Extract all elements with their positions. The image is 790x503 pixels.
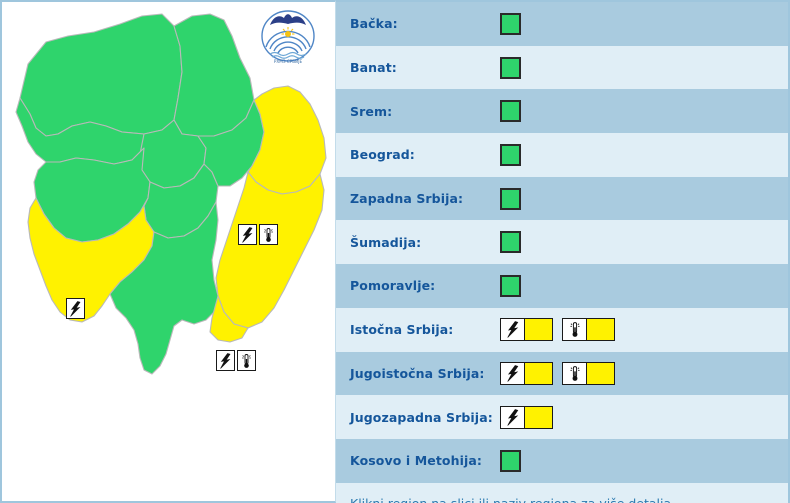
region-warning-list: Bačka: Banat: Srem: Beograd: Zapadna Srb bbox=[336, 0, 790, 503]
region-name-zapadna-srbija[interactable]: Zapadna Srbija: bbox=[350, 191, 500, 206]
region-status-srem bbox=[500, 100, 521, 122]
list-row-beograd[interactable]: Beograd: bbox=[336, 133, 788, 177]
list-row-kosovo-i-metohija[interactable]: Kosovo i Metohija: bbox=[336, 439, 788, 483]
list-row-srem[interactable]: Srem: bbox=[336, 89, 788, 133]
thunderstorm-icon bbox=[216, 350, 235, 371]
severity-yellow-cell bbox=[525, 407, 552, 428]
status-green-swatch bbox=[500, 100, 521, 122]
region-name-srem[interactable]: Srem: bbox=[350, 104, 500, 119]
region-name-pomoravlje[interactable]: Pomoravlje: bbox=[350, 278, 500, 293]
high-temperature-icon bbox=[563, 363, 587, 384]
region-name-jugoistocna-srbija[interactable]: Jugoistočna Srbija: bbox=[350, 366, 500, 381]
warning-badge-high-temperature[interactable] bbox=[562, 362, 615, 385]
status-green-swatch bbox=[500, 231, 521, 253]
status-green-swatch bbox=[500, 13, 521, 35]
list-row-istocna-srbija[interactable]: Istočna Srbija: bbox=[336, 308, 788, 352]
status-green-swatch bbox=[500, 275, 521, 297]
region-name-sumadija[interactable]: Šumadija: bbox=[350, 235, 500, 250]
warning-badge-thunderstorm[interactable] bbox=[500, 318, 553, 341]
status-green-swatch bbox=[500, 450, 521, 472]
list-row-zapadna-srbija[interactable]: Zapadna Srbija: bbox=[336, 177, 788, 221]
thunderstorm-icon bbox=[238, 224, 257, 245]
severity-yellow-cell bbox=[525, 363, 552, 384]
thunderstorm-icon bbox=[501, 319, 525, 340]
jugoistocna-srbija-map-badge[interactable] bbox=[216, 350, 256, 371]
high-temperature-icon bbox=[563, 319, 587, 340]
severity-yellow-cell bbox=[587, 319, 614, 340]
region-name-banat[interactable]: Banat: bbox=[350, 60, 500, 75]
svg-text:РХМЗ СРБИЈЕ: РХМЗ СРБИЈЕ bbox=[274, 59, 303, 64]
region-name-istocna-srbija[interactable]: Istočna Srbija: bbox=[350, 322, 500, 337]
warning-badge-high-temperature[interactable] bbox=[562, 318, 615, 341]
map-region-backa[interactable] bbox=[20, 14, 182, 136]
thunderstorm-icon bbox=[501, 363, 525, 384]
region-status-banat bbox=[500, 57, 521, 79]
list-row-banat[interactable]: Banat: bbox=[336, 46, 788, 90]
map-region-banat[interactable] bbox=[174, 14, 254, 136]
list-row-jugoistocna-srbija[interactable]: Jugoistočna Srbija: bbox=[336, 352, 788, 396]
status-green-swatch bbox=[500, 57, 521, 79]
status-green-swatch bbox=[500, 144, 521, 166]
footer-hint-text: Klikni region na slici ili naziv regiona… bbox=[350, 496, 671, 503]
status-green-swatch bbox=[500, 188, 521, 210]
region-status-pomoravlje bbox=[500, 275, 521, 297]
region-status-jugozapadna-srbija bbox=[500, 406, 553, 429]
list-footer: Klikni region na slici ili naziv regiona… bbox=[336, 483, 788, 503]
list-row-sumadija[interactable]: Šumadija: bbox=[336, 220, 788, 264]
serbia-warning-map[interactable]: РХМЗ СРБИЈЕ bbox=[0, 0, 336, 503]
thunderstorm-icon bbox=[66, 298, 85, 319]
warning-badge-thunderstorm[interactable] bbox=[500, 362, 553, 385]
region-name-backa[interactable]: Bačka: bbox=[350, 16, 500, 31]
thunderstorm-icon bbox=[501, 407, 525, 428]
severity-yellow-cell bbox=[525, 319, 552, 340]
region-name-beograd[interactable]: Beograd: bbox=[350, 147, 500, 162]
jugozapadna-srbija-map-badge[interactable] bbox=[66, 298, 85, 319]
severity-yellow-cell bbox=[587, 363, 614, 384]
list-row-pomoravlje[interactable]: Pomoravlje: bbox=[336, 264, 788, 308]
istocna-srbija-map-badge[interactable] bbox=[238, 224, 278, 245]
region-status-backa bbox=[500, 13, 521, 35]
region-status-zapadna-srbija bbox=[500, 188, 521, 210]
region-status-sumadija bbox=[500, 231, 521, 253]
region-status-jugoistocna-srbija bbox=[500, 362, 615, 385]
region-status-kosovo-i-metohija bbox=[500, 450, 521, 472]
warning-badge-thunderstorm[interactable] bbox=[500, 406, 553, 429]
region-name-jugozapadna-srbija[interactable]: Jugozapadna Srbija: bbox=[350, 410, 500, 425]
region-name-kosovo-i-metohija[interactable]: Kosovo i Metohija: bbox=[350, 453, 500, 468]
list-row-jugozapadna-srbija[interactable]: Jugozapadna Srbija: bbox=[336, 395, 788, 439]
high-temperature-icon bbox=[259, 224, 278, 245]
weather-warning-page: РХМЗ СРБИЈЕ bbox=[0, 0, 790, 503]
rhmz-logo-icon: РХМЗ СРБИЈЕ bbox=[257, 7, 319, 67]
list-row-backa[interactable]: Bačka: bbox=[336, 2, 788, 46]
high-temperature-icon bbox=[237, 350, 256, 371]
region-status-istocna-srbija bbox=[500, 318, 615, 341]
map-regions-svg[interactable] bbox=[2, 2, 336, 501]
map-region-jugoistocna-srbija[interactable] bbox=[216, 172, 324, 328]
region-status-beograd bbox=[500, 144, 521, 166]
